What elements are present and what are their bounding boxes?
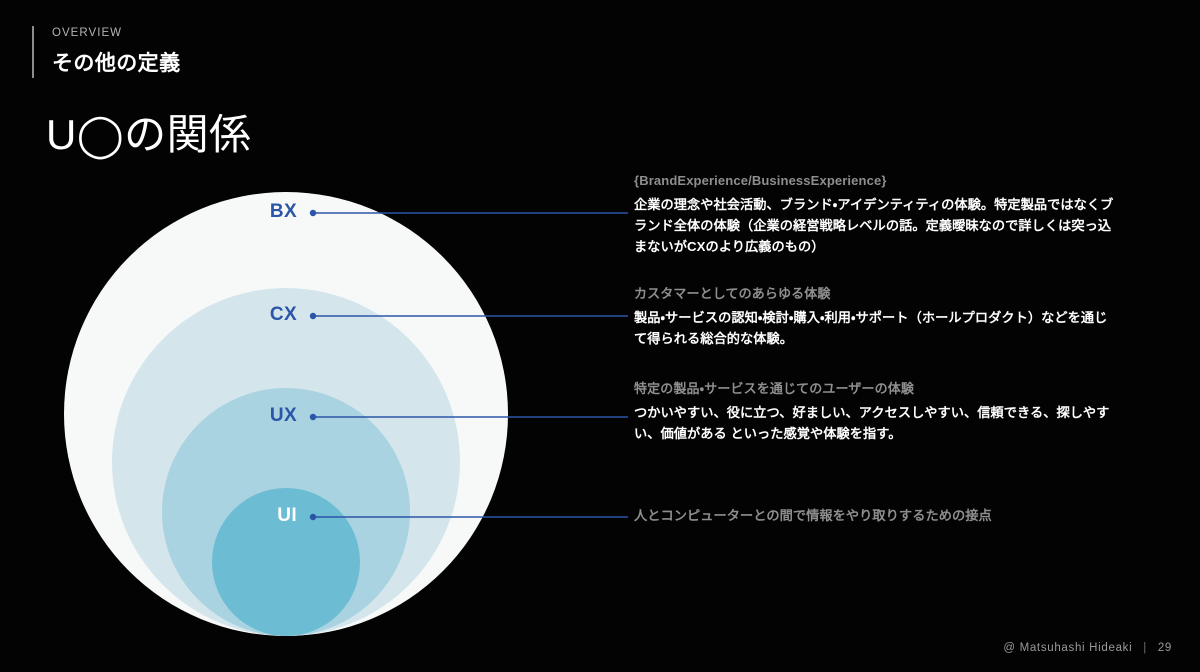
ring-label-bx: BX — [217, 201, 297, 223]
footer-separator: | — [1136, 642, 1154, 654]
ring-label-ui: UI — [217, 505, 297, 527]
ring-label-cx: CX — [217, 304, 297, 326]
connector-dot-ux — [310, 414, 316, 420]
description-body-cx: 製品・サービスの認知・検討・購入・利用・サポート（ホールプロダクト）などを通じて… — [634, 307, 1120, 350]
connector-dot-ui — [310, 514, 316, 520]
slide-footer: @ Matsuhashi Hideaki | 29 — [1003, 642, 1172, 654]
description-body-ui: 人とコンピューターとの間で情報をやり取りするための接点 — [634, 505, 1120, 526]
ring-label-ux: UX — [217, 405, 297, 427]
description-body-bx: 企業の理念や社会活動、ブランド・アイデンティティの体験。特定製品ではなくブランド… — [634, 194, 1120, 258]
connector-dot-bx — [310, 210, 316, 216]
description-block-ui: 人とコンピューターとの間で情報をやり取りするための接点 — [634, 505, 1120, 526]
description-block-ux: 特定の製品・サービスを通じてのユーザーの体験 つかいやすい、役に立つ、好ましい、… — [634, 379, 1120, 444]
footer-page-number: 29 — [1158, 642, 1172, 654]
description-block-cx: カスタマーとしてのあらゆる体験 製品・サービスの認知・検討・購入・利用・サポート… — [634, 284, 1120, 349]
description-heading-ux: 特定の製品・サービスを通じてのユーザーの体験 — [634, 379, 1120, 399]
connector-dot-cx — [310, 313, 316, 319]
description-heading-bx: {BrandExperience/BusinessExperience} — [634, 171, 1120, 191]
nested-circles-diagram: BX CX UX UI — [0, 0, 640, 672]
slide-canvas: OVERVIEW その他の定義 U◯の関係 BX CX UX UI {Brand… — [0, 0, 1200, 672]
footer-author: @ Matsuhashi Hideaki — [1003, 642, 1132, 654]
description-block-bx: {BrandExperience/BusinessExperience} 企業の… — [634, 171, 1120, 258]
description-heading-cx: カスタマーとしてのあらゆる体験 — [634, 284, 1120, 304]
description-body-ux: つかいやすい、役に立つ、好ましい、アクセスしやすい、信頼できる、探しやすい、価値… — [634, 402, 1120, 445]
